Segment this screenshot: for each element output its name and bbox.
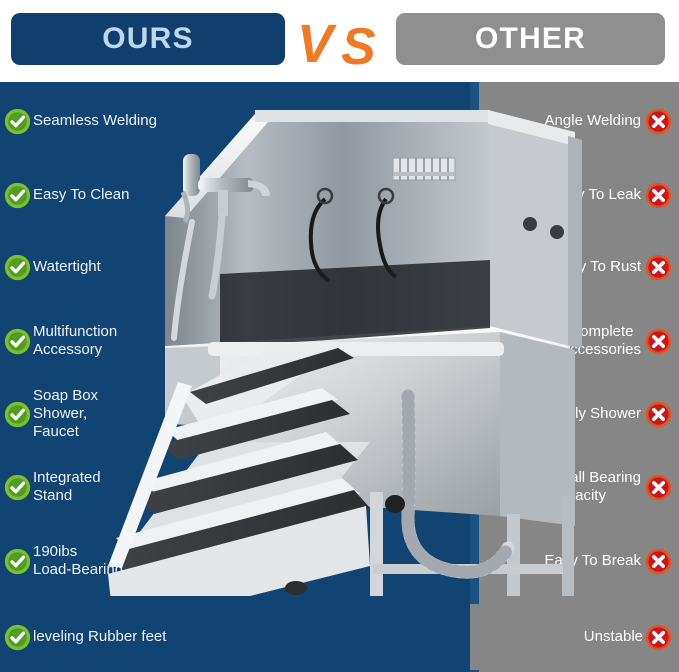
ours-item-label: 190ibs Load-Bearing (33, 543, 123, 579)
other-item-bar[interactable]: Easy To Break (519, 528, 663, 594)
other-item-label: Easy To Rust (553, 258, 641, 276)
other-header-label: OTHER (475, 22, 586, 56)
check-icon (4, 108, 31, 135)
ours-item-bar[interactable]: leveling Rubber feet (11, 604, 470, 670)
ours-item-label: leveling Rubber feet (33, 628, 166, 646)
other-item-label: Only Shower (555, 405, 641, 423)
other-item-label: Easy To Leak (551, 186, 641, 204)
cross-icon (645, 624, 672, 651)
cross-icon (645, 548, 672, 575)
ours-item-label: Watertight (33, 258, 101, 276)
other-item-bar[interactable]: Unstable (470, 604, 665, 670)
check-icon (4, 254, 31, 281)
ours-item-label: Soap Box Shower, Faucet (33, 387, 98, 441)
ours-item-bar[interactable]: Multifunction Accessory (11, 308, 161, 374)
other-item-bar[interactable]: Incomplete Accessories (519, 308, 663, 374)
check-icon (4, 624, 31, 651)
other-item-label: Easy To Break (545, 552, 641, 570)
check-icon (4, 328, 31, 355)
comparison-row: Easy To Clean Easy To Leak (0, 162, 679, 228)
other-item-bar[interactable]: Only Shower (519, 381, 663, 447)
vs-logo-icon: V S (295, 2, 391, 80)
check-icon (4, 401, 31, 428)
other-item-bar[interactable]: Easy To Rust (519, 234, 663, 300)
comparison-row: Multifunction Accessory Incomplete Acces… (0, 308, 679, 374)
ours-item-bar[interactable]: 190ibs Load-Bearing (11, 528, 161, 594)
cross-icon (645, 401, 672, 428)
ours-item-bar[interactable]: Seamless Welding (11, 88, 161, 154)
ours-item-label: Multifunction Accessory (33, 323, 117, 359)
cross-icon (645, 474, 672, 501)
other-item-label: Angle Welding (545, 112, 641, 130)
comparison-row: leveling Rubber feet Unstable (0, 604, 679, 670)
other-header-pill: OTHER (396, 13, 665, 65)
ours-header-label: OURS (102, 22, 193, 56)
ours-item-bar[interactable]: Watertight (11, 234, 161, 300)
cross-icon (645, 108, 672, 135)
ours-item-bar[interactable]: Integrated Stand (11, 454, 161, 520)
ours-header-pill: OURS (11, 13, 285, 65)
ours-item-label: Integrated Stand (33, 469, 101, 505)
cross-icon (645, 254, 672, 281)
ours-item-bar[interactable]: Soap Box Shower, Faucet (11, 381, 161, 447)
ours-item-label: Easy To Clean (33, 186, 129, 204)
comparison-infographic: Seamless Welding Angle Welding Easy To C… (0, 0, 679, 672)
check-icon (4, 548, 31, 575)
ours-item-bar[interactable]: Easy To Clean (11, 162, 161, 228)
other-item-bar[interactable]: Angle Welding (519, 88, 663, 154)
cross-icon (645, 328, 672, 355)
comparison-row: Integrated Stand Small Bearing Capacity (0, 454, 679, 520)
header: OURS V S OTHER (0, 0, 679, 82)
other-item-label: Small Bearing Capacity (548, 469, 641, 505)
comparison-row: 190ibs Load-Bearing Easy To Break (0, 528, 679, 594)
ours-item-label: Seamless Welding (33, 112, 157, 130)
check-icon (4, 182, 31, 209)
cross-icon (645, 182, 672, 209)
comparison-row: Watertight Easy To Rust (0, 234, 679, 300)
check-icon (4, 474, 31, 501)
comparison-row: Soap Box Shower, Faucet Only Shower (0, 381, 679, 447)
other-item-label: Unstable (584, 628, 643, 646)
other-item-bar[interactable]: Easy To Leak (519, 162, 663, 228)
comparison-rows: Seamless Welding Angle Welding Easy To C… (0, 82, 679, 672)
comparison-row: Seamless Welding Angle Welding (0, 88, 679, 154)
other-item-bar[interactable]: Small Bearing Capacity (519, 454, 663, 520)
other-item-label: Incomplete Accessories (560, 323, 641, 359)
